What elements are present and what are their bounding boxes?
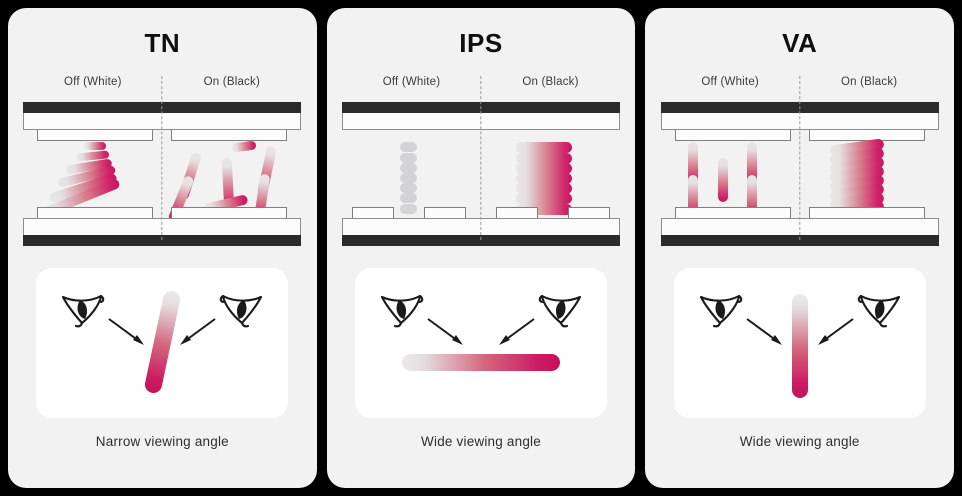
stack-diagram-va: Off (White) On (Black) — [661, 76, 939, 246]
bottom-electrode — [424, 207, 466, 218]
state-divider-line — [480, 76, 481, 240]
liquid-crystal-molecule — [718, 158, 728, 202]
bottom-electrode — [171, 207, 287, 218]
bottom-electrode — [568, 207, 610, 218]
viewing-angle-card-tn — [36, 268, 288, 418]
lc-half-on — [481, 141, 620, 207]
lc-half-on — [162, 141, 301, 207]
liquid-crystal-molecule — [516, 142, 572, 153]
eye-viewing-angle-icon — [379, 290, 425, 330]
viewing-direction-arrow-icon — [493, 316, 537, 348]
state-label-on: On (Black) — [162, 76, 301, 96]
liquid-crystal-molecule-inactive — [400, 163, 417, 173]
panel-caption-va: Wide viewing angle — [740, 434, 860, 449]
state-label-on: On (Black) — [800, 76, 939, 96]
viewing-direction-arrow-icon — [812, 316, 856, 348]
lc-half-on — [800, 141, 939, 207]
state-divider-line — [799, 76, 800, 240]
eye-viewing-angle-icon — [218, 290, 264, 330]
eye-viewing-angle-icon — [60, 290, 106, 330]
bottom-electrode — [352, 207, 394, 218]
bottom-electrode — [496, 207, 538, 218]
liquid-crystal-molecule — [231, 141, 256, 153]
panel-caption-tn: Narrow viewing angle — [96, 434, 229, 449]
viewing-angle-indicator-bar — [792, 294, 808, 398]
stack-diagram-ips: Off (White) On (Black) — [342, 76, 620, 246]
liquid-crystal-molecule — [516, 193, 572, 204]
state-label-off: Off (White) — [661, 76, 800, 96]
viewing-angle-card-ips — [355, 268, 607, 418]
viewing-direction-arrow-icon — [174, 316, 218, 348]
viewing-angle-indicator-bar — [402, 354, 560, 371]
liquid-crystal-molecule-inactive — [400, 153, 417, 163]
top-electrode — [675, 130, 791, 141]
lc-half-off — [661, 141, 800, 207]
panel-title-tn: TN — [145, 30, 181, 56]
viewing-direction-arrow-icon — [744, 316, 788, 348]
panel-title-ips: IPS — [459, 30, 502, 56]
panel-title-va: VA — [782, 30, 817, 56]
liquid-crystal-molecule — [516, 153, 572, 164]
lc-half-off — [342, 141, 481, 207]
stack-diagram-tn: Off (White) On (Black) — [23, 76, 301, 246]
eye-viewing-angle-icon — [537, 290, 583, 330]
lcd-comparison-figure: TN Off (White) On (Black) — [0, 0, 962, 496]
lc-half-off — [23, 141, 162, 207]
panel-caption-ips: Wide viewing angle — [421, 434, 541, 449]
viewing-direction-arrow-icon — [106, 316, 150, 348]
panel-va: VA Off (White) On (Black) — [645, 8, 954, 488]
state-label-on: On (Black) — [481, 76, 620, 96]
liquid-crystal-molecule-inactive — [400, 183, 417, 193]
liquid-crystal-molecule-inactive — [400, 142, 417, 152]
top-electrode — [37, 130, 153, 141]
bottom-electrode — [37, 207, 153, 218]
top-electrode — [809, 130, 925, 141]
eye-viewing-angle-icon — [698, 290, 744, 330]
liquid-crystal-molecule-inactive — [400, 173, 417, 183]
liquid-crystal-molecule-inactive — [400, 193, 417, 203]
state-divider-line — [162, 76, 163, 240]
state-label-off: Off (White) — [23, 76, 162, 96]
viewing-direction-arrow-icon — [425, 316, 469, 348]
viewing-angle-card-va — [674, 268, 926, 418]
bottom-electrode — [809, 207, 925, 218]
panel-ips: IPS Off (White) On (Black) — [327, 8, 636, 488]
state-label-off: Off (White) — [342, 76, 481, 96]
liquid-crystal-molecule — [84, 142, 106, 150]
top-electrode — [171, 130, 287, 141]
panel-tn: TN Off (White) On (Black) — [8, 8, 317, 488]
eye-viewing-angle-icon — [856, 290, 902, 330]
bottom-electrode — [675, 207, 791, 218]
